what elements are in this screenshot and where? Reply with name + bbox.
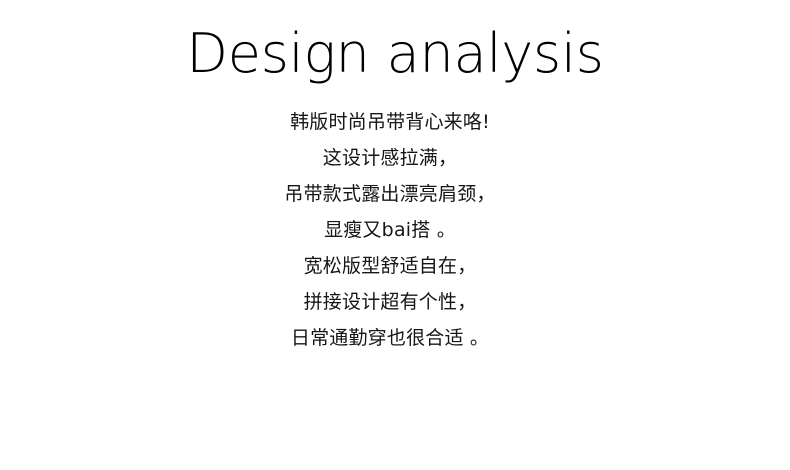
description-line: 显瘦又bai搭 。 [0, 212, 780, 248]
page-title-block: Design analysis [0, 26, 790, 83]
page-title: Design analysis [0, 26, 790, 83]
description-line: 拼接设计超有个性， [0, 284, 780, 320]
design-analysis-page: Design analysis 韩版时尚吊带背心来咯! 这设计感拉满， 吊带款式… [0, 0, 790, 470]
description-line: 宽松版型舒适自在， [0, 248, 780, 284]
description-line: 这设计感拉满， [0, 140, 780, 176]
description-line: 吊带款式露出漂亮肩颈， [0, 176, 780, 212]
description-line: 韩版时尚吊带背心来咯! [0, 104, 780, 140]
description-block: 韩版时尚吊带背心来咯! 这设计感拉满， 吊带款式露出漂亮肩颈， 显瘦又bai搭 … [0, 104, 780, 356]
description-line: 日常通勤穿也很合适 。 [0, 320, 780, 356]
